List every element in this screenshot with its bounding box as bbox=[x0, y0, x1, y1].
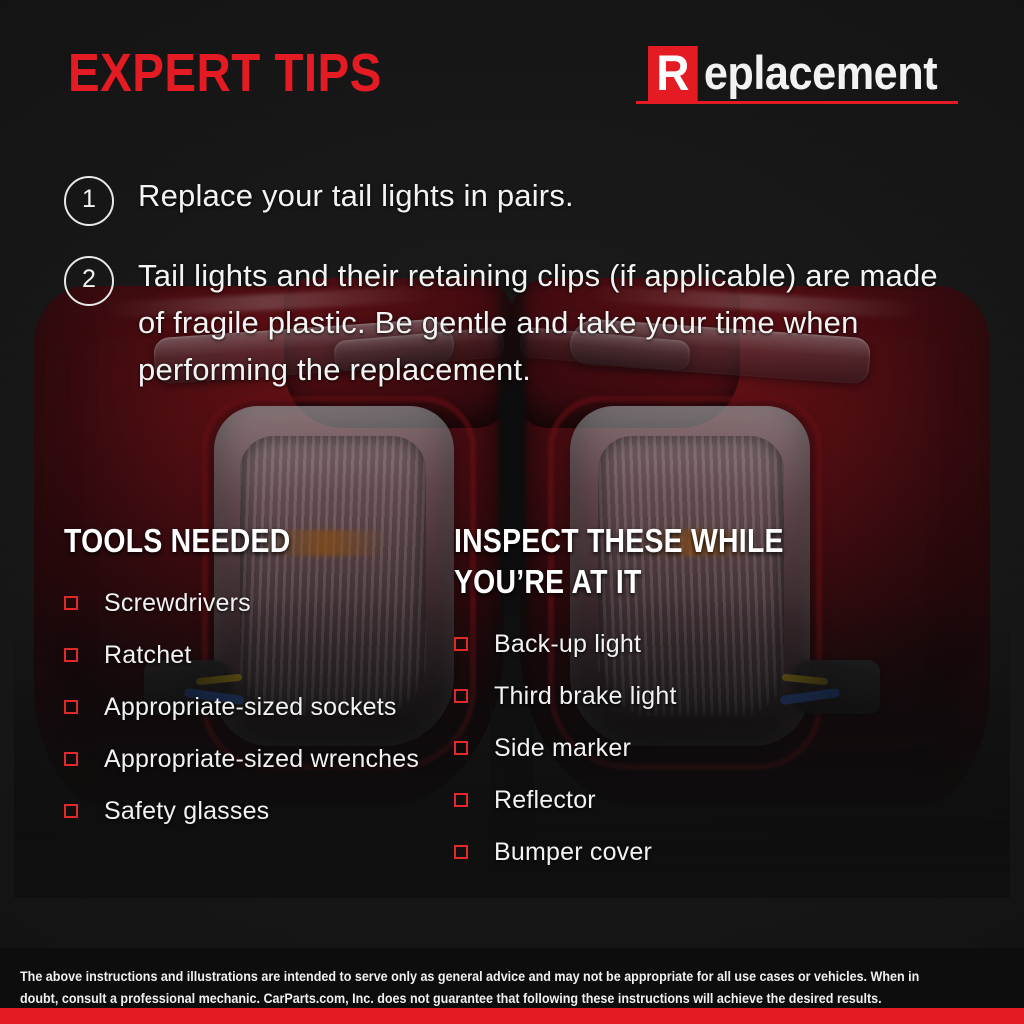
list-item-label: Ratchet bbox=[104, 639, 192, 671]
brand-logo: R eplacement bbox=[648, 46, 958, 102]
checkbox-icon bbox=[454, 741, 468, 755]
footer-accent-bar bbox=[0, 1008, 1024, 1024]
list-item: Appropriate-sized sockets bbox=[64, 691, 454, 723]
tip-number-badge: 1 bbox=[64, 176, 114, 226]
tip-item: 1 Replace your tail lights in pairs. bbox=[64, 172, 964, 226]
list-item: Safety glasses bbox=[64, 795, 454, 827]
footer-disclaimer: The above instructions and illustrations… bbox=[0, 948, 1024, 1008]
list-item-label: Third brake light bbox=[494, 680, 677, 712]
list-item-label: Screwdrivers bbox=[104, 587, 251, 619]
checkbox-icon bbox=[64, 804, 78, 818]
logo-underline bbox=[636, 101, 958, 104]
inspect-these-column: INSPECT THESE WHILE YOU’RE AT IT Back-up… bbox=[454, 520, 874, 888]
logo-wordmark-wrap: eplacement bbox=[702, 46, 958, 100]
checkbox-icon bbox=[454, 689, 468, 703]
checkbox-icon bbox=[64, 596, 78, 610]
list-item-label: Back-up light bbox=[494, 628, 641, 660]
list-item-label: Side marker bbox=[494, 732, 631, 764]
list-item: Back-up light bbox=[454, 628, 874, 660]
tip-number-badge: 2 bbox=[64, 256, 114, 306]
checkbox-icon bbox=[454, 845, 468, 859]
list-item-label: Safety glasses bbox=[104, 795, 269, 827]
list-item-label: Reflector bbox=[494, 784, 596, 816]
checkbox-icon bbox=[454, 637, 468, 651]
list-item: Ratchet bbox=[64, 639, 454, 671]
list-item: Screwdrivers bbox=[64, 587, 454, 619]
logo-mark-r: R bbox=[648, 46, 698, 102]
tools-needed-list: Screwdrivers Ratchet Appropriate-sized s… bbox=[64, 587, 454, 827]
checkbox-icon bbox=[454, 793, 468, 807]
list-item: Appropriate-sized wrenches bbox=[64, 743, 454, 775]
disclaimer-text: The above instructions and illustrations… bbox=[20, 966, 935, 1010]
tip-text: Tail lights and their retaining clips (i… bbox=[138, 252, 964, 393]
list-item-label: Appropriate-sized sockets bbox=[104, 691, 397, 723]
checklist-columns: TOOLS NEEDED Screwdrivers Ratchet Approp… bbox=[64, 520, 974, 888]
list-item: Third brake light bbox=[454, 680, 874, 712]
inspect-these-heading: INSPECT THESE WHILE YOU’RE AT IT bbox=[454, 520, 815, 602]
list-item: Side marker bbox=[454, 732, 874, 764]
expert-tips-infographic: EXPERT TIPS R eplacement 1 Replace your … bbox=[0, 0, 1024, 1024]
tips-list: 1 Replace your tail lights in pairs. 2 T… bbox=[64, 172, 964, 419]
list-item-label: Bumper cover bbox=[494, 836, 652, 868]
page-title: EXPERT TIPS bbox=[68, 44, 382, 102]
logo-wordmark: eplacement bbox=[702, 46, 937, 100]
checkbox-icon bbox=[64, 700, 78, 714]
content-layer: EXPERT TIPS R eplacement 1 Replace your … bbox=[0, 0, 1024, 1024]
tip-text: Replace your tail lights in pairs. bbox=[138, 172, 574, 219]
list-item: Bumper cover bbox=[454, 836, 874, 868]
list-item: Reflector bbox=[454, 784, 874, 816]
inspect-these-list: Back-up light Third brake light Side mar… bbox=[454, 628, 874, 868]
list-item-label: Appropriate-sized wrenches bbox=[104, 743, 419, 775]
tools-needed-column: TOOLS NEEDED Screwdrivers Ratchet Approp… bbox=[64, 520, 454, 888]
tools-needed-heading: TOOLS NEEDED bbox=[64, 520, 399, 561]
tip-item: 2 Tail lights and their retaining clips … bbox=[64, 252, 964, 393]
checkbox-icon bbox=[64, 648, 78, 662]
checkbox-icon bbox=[64, 752, 78, 766]
